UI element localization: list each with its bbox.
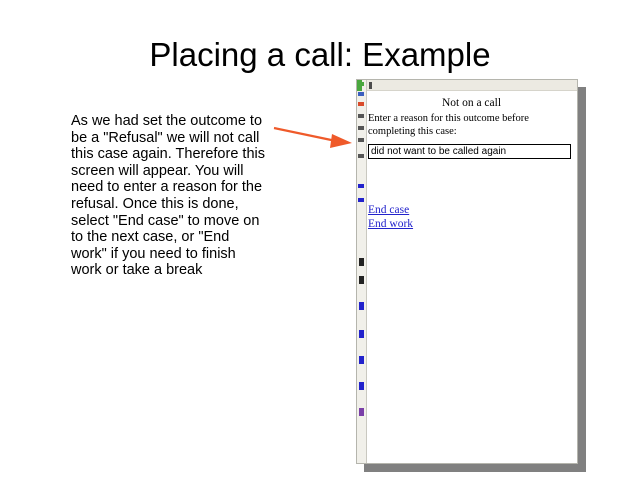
strip-fragment <box>358 184 364 188</box>
arrow-head <box>330 134 352 148</box>
end-work-link[interactable]: End work <box>368 217 413 231</box>
strip-fragment <box>359 408 364 416</box>
panel-heading: Not on a call <box>368 97 575 109</box>
strip-fragment <box>359 258 364 266</box>
cutoff-top-toolbar <box>367 80 577 91</box>
toolbar-tick-mark <box>369 82 372 89</box>
reason-input[interactable] <box>368 144 571 159</box>
strip-fragment <box>359 302 364 310</box>
strip-fragment <box>359 382 364 390</box>
strip-fragment <box>358 92 364 96</box>
page-title: Placing a call: Example <box>0 36 640 74</box>
strip-fragment <box>358 102 364 106</box>
annotation-arrow-container <box>268 118 360 154</box>
strip-fragment <box>358 138 364 142</box>
strip-fragment <box>358 154 364 158</box>
panel-instruction-text: Enter a reason for this outcome before c… <box>368 112 575 138</box>
slide-body-text: As we had set the outcome to be a "Refus… <box>71 113 266 279</box>
toolbar-green-marker <box>357 80 362 91</box>
strip-fragment <box>359 356 364 364</box>
panel-content: Not on a call Enter a reason for this ou… <box>368 92 575 461</box>
strip-fragment <box>359 330 364 338</box>
cutoff-left-strip <box>357 80 367 463</box>
strip-fragment <box>358 114 364 118</box>
arrow-shaft <box>274 128 336 141</box>
strip-fragment <box>359 276 364 284</box>
pointer-arrow-icon <box>268 118 360 154</box>
strip-fragment <box>358 126 364 130</box>
end-case-link[interactable]: End case <box>368 203 409 217</box>
strip-fragment <box>358 198 364 202</box>
embedded-screenshot-panel: Not on a call Enter a reason for this ou… <box>356 79 578 464</box>
reason-input-wrapper <box>368 141 575 159</box>
panel-links: End case End work <box>368 203 575 231</box>
